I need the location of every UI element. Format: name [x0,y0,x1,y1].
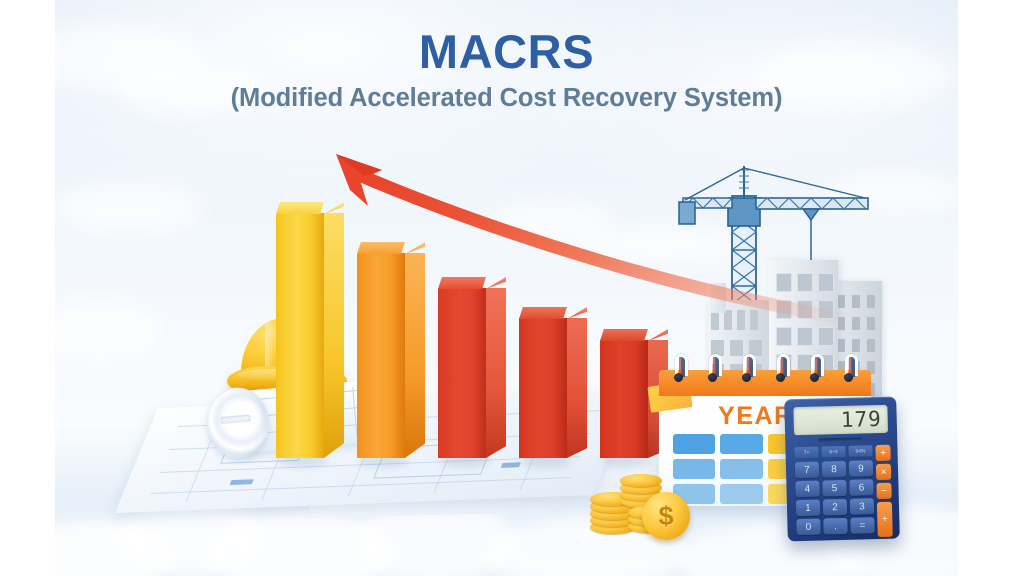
calculator-function-key: 94% [848,445,872,457]
trend-arrow-icon [320,150,958,360]
calculator-key: 1 [796,500,820,517]
calculator-operator-key: + [877,502,893,537]
calculator-key: 0 [796,519,820,536]
calculator-key: = [850,517,874,534]
illustration-canvas: MACRS (Modified Accelerated Cost Recover… [0,0,1024,576]
calculator-key: 8 [822,461,846,478]
calculator-operator-key: × [876,464,891,480]
calendar-ring [811,354,824,384]
dollar-symbol: $ [658,501,673,532]
calculator-function-key: 6÷4 [821,446,845,458]
calculator-display-value: 179 [840,407,882,432]
calendar-day-cell [720,484,762,504]
calendar-day-cell [673,434,715,454]
calendar-ring [743,354,756,384]
calculator-key: 7 [795,462,819,479]
calculator-display: 179 [793,405,888,435]
calendar-ring [777,354,790,384]
dollar-coin: $ [642,492,690,540]
calendar-ring [675,354,688,384]
calculator-key: 9 [849,460,873,477]
calculator-function-keys: 7+6÷494% [794,445,872,458]
calculator-keypad: 7894561230.= [795,460,875,535]
page-subtitle: (Modified Accelerated Cost Recovery Syst… [55,84,958,113]
calculator-key: 6 [849,479,873,496]
calendar-ring [709,354,722,384]
calendar-header-band [659,370,871,396]
calendar-day-cell [720,434,762,454]
page-title: MACRS [55,24,958,79]
scene: MACRS (Modified Accelerated Cost Recover… [55,0,958,576]
calculator-operator-key: + [875,445,890,461]
calculator-key: 3 [850,498,874,515]
calendar-day-cell [720,459,762,479]
bar-year-1 [276,213,324,458]
calculator-key: 5 [822,480,846,497]
calculator-function-key: 7+ [794,447,818,459]
coin-stacks: $ [580,470,700,542]
calculator: 179 7+6÷494% 7894561230.= +×−+ [784,397,900,542]
cloud [55,180,205,236]
calculator-key: 4 [795,481,819,498]
calendar-ring [845,354,858,384]
cloud [55,300,165,360]
calculator-key: . [823,518,847,535]
calculator-operator-keys: +×−+ [875,445,892,540]
calculator-key: 2 [823,499,847,516]
calculator-operator-key: − [876,483,891,499]
